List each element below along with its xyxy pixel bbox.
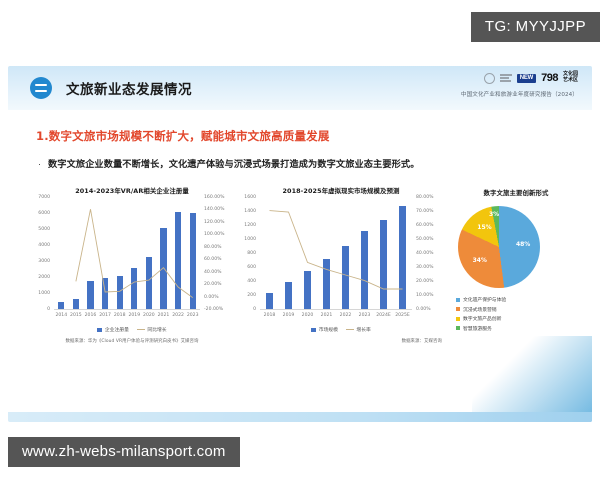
pie-wrapper: 48% 34% 15% 3% bbox=[458, 206, 540, 288]
legend-label: 增长率 bbox=[356, 326, 370, 333]
x-tick-label: 2018 bbox=[260, 313, 279, 318]
y-tick-label: 1000 bbox=[32, 291, 50, 296]
y-tick-label: 2000 bbox=[32, 275, 50, 280]
secondary-y-tick-label: 80.00% bbox=[416, 195, 434, 200]
pie-legend-swatch bbox=[456, 298, 460, 302]
secondary-y-tick-label: 30.00% bbox=[416, 265, 434, 270]
secondary-y-tick-label: 0.00% bbox=[416, 307, 431, 312]
secondary-y-tick-label: 0.00% bbox=[204, 295, 219, 300]
pie-legend-item: 智慧旅游服务 bbox=[456, 325, 506, 332]
pie-legend: 文化遗产保护与体验沉浸式场景营销数字文旅产品创新智慧旅游服务 bbox=[456, 296, 506, 332]
chart-vr-ar-registrations: 2014-2023年VR/AR相关企业注册量 01000200030004000… bbox=[32, 186, 232, 346]
equals-badge-icon bbox=[30, 77, 52, 99]
decorative-corner bbox=[472, 336, 592, 422]
chart1-title: 2014-2023年VR/AR相关企业注册量 bbox=[32, 186, 232, 195]
legend-item: 市场规模 bbox=[311, 326, 338, 333]
x-tick-label: 2021 bbox=[156, 313, 171, 318]
x-tick-label: 2022 bbox=[171, 313, 186, 318]
chart2-source: 数据来源：艾媒咨询 bbox=[402, 338, 442, 344]
chart-innovation-forms: 数字文旅主要创新形式 48% 34% 15% 3% 文化遗产保护与体验沉浸式场景… bbox=[450, 188, 582, 348]
secondary-y-tick-label: 70.00% bbox=[416, 209, 434, 214]
logo-798-subtitle-line2: 艺术区 bbox=[563, 77, 578, 83]
x-tick-label: 2018 bbox=[112, 313, 127, 318]
secondary-y-tick-label: 50.00% bbox=[416, 237, 434, 242]
logo-798-subtitle: 文化园 艺术区 bbox=[563, 72, 578, 84]
report-citation: 中国文化产业和旅游业年度研究报告（2024） bbox=[461, 90, 578, 98]
slide-banner: 文旅新业态发展情况 NEW 798 文化园 艺术区 中国文化产业和旅游业年度研究… bbox=[8, 66, 592, 110]
x-axis-line bbox=[260, 309, 412, 310]
y-tick-label: 0 bbox=[32, 307, 50, 312]
pie-legend-swatch bbox=[456, 317, 460, 321]
legend-label: 市场规模 bbox=[319, 326, 338, 333]
y-tick-label: 600 bbox=[236, 265, 256, 270]
trend-line bbox=[260, 198, 412, 310]
site-url-watermark: www.zh-webs-milansport.com bbox=[8, 437, 240, 467]
secondary-y-tick-label: 80.00% bbox=[204, 245, 222, 250]
chart2-plot-area bbox=[260, 198, 412, 310]
y-tick-label: 1200 bbox=[236, 223, 256, 228]
pie-legend-item: 数字文旅产品创新 bbox=[456, 315, 506, 322]
pie-legend-item: 沉浸式场景营销 bbox=[456, 306, 506, 313]
y-tick-label: 6000 bbox=[32, 211, 50, 216]
x-axis-line bbox=[54, 309, 200, 310]
bullet-dot-icon: · bbox=[38, 158, 41, 171]
secondary-y-tick-label: 140.00% bbox=[204, 207, 224, 212]
pie-legend-label: 文化遗产保护与体验 bbox=[463, 296, 506, 303]
secondary-y-tick-label: 20.00% bbox=[416, 279, 434, 284]
pie-label-2: 15% bbox=[477, 224, 491, 231]
legend-label: 企业注册量 bbox=[105, 326, 129, 333]
secondary-y-tick-label: 160.00% bbox=[204, 195, 224, 200]
legend-bar-swatch bbox=[97, 328, 102, 332]
pie-legend-swatch bbox=[456, 307, 460, 311]
screenshot-root: TG: MYYJJPP 文旅新业态发展情况 NEW 798 文化园 艺术区 bbox=[0, 0, 600, 480]
chart1-plot-area bbox=[54, 198, 200, 310]
legend-bar-swatch bbox=[311, 328, 316, 332]
x-tick-label: 2025E bbox=[393, 313, 412, 318]
pie-label-3: 3% bbox=[489, 211, 499, 218]
chart-vr-market-size: 2018-2025年虚拟现实市场规模及预测 020040060080010001… bbox=[236, 186, 446, 346]
y-tick-label: 1600 bbox=[236, 195, 256, 200]
legend-line-swatch bbox=[137, 329, 145, 330]
secondary-y-tick-label: 60.00% bbox=[204, 257, 222, 262]
secondary-y-tick-label: 40.00% bbox=[204, 270, 222, 275]
trend-line bbox=[54, 198, 200, 310]
x-tick-label: 2020 bbox=[142, 313, 157, 318]
pie-legend-item: 文化遗产保护与体验 bbox=[456, 296, 506, 303]
x-tick-label: 2020 bbox=[298, 313, 317, 318]
chart2-title: 2018-2025年虚拟现实市场规模及预测 bbox=[236, 186, 446, 195]
y-tick-label: 3000 bbox=[32, 259, 50, 264]
x-tick-label: 2017 bbox=[98, 313, 113, 318]
slide-title: 文旅新业态发展情况 bbox=[66, 78, 192, 98]
x-tick-label: 2015 bbox=[69, 313, 84, 318]
chart1-source: 数据来源：华为《Cloud VR用户体验与评测研究白皮书》艾媒咨询 bbox=[32, 338, 232, 344]
pie-legend-label: 沉浸式场景营销 bbox=[463, 306, 497, 313]
secondary-y-tick-label: 60.00% bbox=[416, 223, 434, 228]
x-tick-label: 2019 bbox=[127, 313, 142, 318]
legend-item: 增长率 bbox=[346, 326, 371, 333]
section-heading: 1.数字文旅市场规模不断扩大，赋能城市文旅高质量发展 bbox=[36, 128, 330, 144]
secondary-y-tick-label: 20.00% bbox=[204, 282, 222, 287]
x-tick-label: 2019 bbox=[279, 313, 298, 318]
legend-line-swatch bbox=[346, 329, 354, 330]
secondary-y-tick-label: -20.00% bbox=[204, 307, 223, 312]
y-tick-label: 1000 bbox=[236, 237, 256, 242]
chart3-title: 数字文旅主要创新形式 bbox=[450, 188, 582, 197]
banner-logo-group: NEW 798 文化园 艺术区 bbox=[484, 72, 578, 84]
legend-item: 企业注册量 bbox=[97, 326, 129, 333]
y-tick-label: 0 bbox=[236, 307, 256, 312]
bullet-text: 数字文旅企业数量不断增长，文化遗产体验与沉浸式场景打造成为数字文旅业态主要形式。 bbox=[48, 158, 420, 171]
x-tick-label: 2024E bbox=[374, 313, 393, 318]
pie-legend-swatch bbox=[456, 326, 460, 330]
secondary-y-tick-label: 40.00% bbox=[416, 251, 434, 256]
seal-logo-icon bbox=[484, 72, 495, 84]
chart1-legend: 企业注册量同比增长 bbox=[32, 326, 232, 333]
bullet-row: · 数字文旅企业数量不断增长，文化遗产体验与沉浸式场景打造成为数字文旅业态主要形… bbox=[38, 158, 568, 171]
legend-label: 同比增长 bbox=[147, 326, 166, 333]
y-tick-label: 5000 bbox=[32, 227, 50, 232]
pie-legend-label: 数字文旅产品创新 bbox=[463, 315, 501, 322]
presentation-slide: 文旅新业态发展情况 NEW 798 文化园 艺术区 中国文化产业和旅游业年度研究… bbox=[8, 66, 592, 422]
pie-label-1: 34% bbox=[473, 257, 487, 264]
x-tick-label: 2021 bbox=[317, 313, 336, 318]
y-tick-label: 400 bbox=[236, 279, 256, 284]
logo-798-number: 798 bbox=[541, 72, 558, 84]
y-tick-label: 200 bbox=[236, 293, 256, 298]
y-tick-label: 4000 bbox=[32, 243, 50, 248]
y-tick-label: 7000 bbox=[32, 195, 50, 200]
x-tick-label: 2014 bbox=[54, 313, 69, 318]
x-tick-label: 2022 bbox=[336, 313, 355, 318]
secondary-y-tick-label: 100.00% bbox=[204, 232, 224, 237]
text-lines-logo-icon bbox=[500, 74, 512, 81]
y-tick-label: 1400 bbox=[236, 209, 256, 214]
telegram-watermark-tag: TG: MYYJJPP bbox=[471, 12, 600, 42]
x-tick-label: 2016 bbox=[83, 313, 98, 318]
pie-legend-label: 智慧旅游服务 bbox=[463, 325, 492, 332]
decorative-bottom-strip bbox=[8, 412, 592, 422]
chart2-legend: 市场规模增长率 bbox=[236, 326, 446, 333]
pie-label-0: 48% bbox=[516, 241, 530, 248]
secondary-y-tick-label: 10.00% bbox=[416, 293, 434, 298]
y-tick-label: 800 bbox=[236, 251, 256, 256]
legend-item: 同比增长 bbox=[137, 326, 167, 333]
partner-logo-badge: NEW bbox=[517, 74, 536, 83]
x-tick-label: 2023 bbox=[185, 313, 200, 318]
x-tick-label: 2023 bbox=[355, 313, 374, 318]
secondary-y-tick-label: 120.00% bbox=[204, 220, 224, 225]
